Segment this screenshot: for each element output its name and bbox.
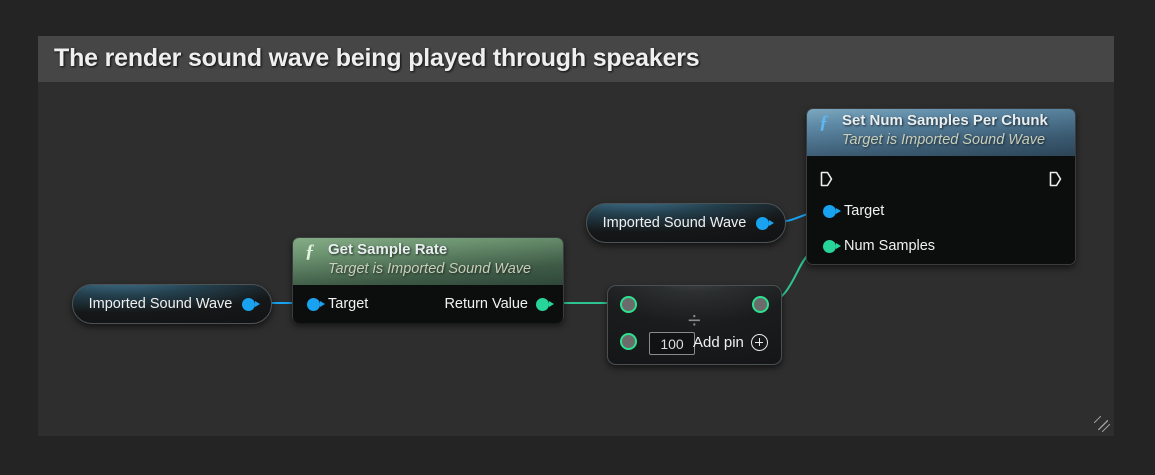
exec-input-pin[interactable]	[820, 171, 833, 187]
pin-dot[interactable]	[536, 298, 549, 311]
node-subtitle: Target is Imported Sound Wave	[842, 132, 1045, 148]
plus-circle-icon[interactable]	[751, 334, 768, 351]
pin-dot[interactable]	[823, 205, 836, 218]
output-pin-return-value[interactable]: Return Value	[444, 296, 549, 312]
function-f-icon: ƒ	[305, 241, 315, 263]
node-header: ƒ Get Sample Rate Target is Imported Sou…	[293, 238, 563, 285]
divide-output[interactable]	[752, 296, 769, 313]
output-pin[interactable]	[756, 217, 769, 230]
node-subtitle: Target is Imported Sound Wave	[328, 261, 531, 277]
pin-label: Target	[328, 296, 368, 312]
node-set-num-samples-per-chunk[interactable]: ƒ Set Num Samples Per Chunk Target is Im…	[806, 108, 1076, 265]
exec-output-pin[interactable]	[1049, 171, 1062, 187]
add-pin-button[interactable]: Add pin	[693, 334, 768, 351]
divide-value-input[interactable]: 100	[649, 332, 695, 355]
node-header: ƒ Set Num Samples Per Chunk Target is Im…	[807, 109, 1075, 156]
add-pin-label: Add pin	[693, 334, 744, 351]
resize-grip-icon[interactable]	[1094, 416, 1110, 432]
node-body: Target Return Value	[293, 285, 563, 323]
input-pin-num-samples[interactable]: Num Samples	[823, 238, 935, 254]
divide-input-b[interactable]	[620, 333, 637, 350]
pin-dot[interactable]	[307, 298, 320, 311]
pin-label: Target	[844, 203, 884, 219]
output-pin[interactable]	[242, 298, 255, 311]
input-pin-target[interactable]: Target	[823, 203, 884, 219]
pin-dot[interactable]	[823, 240, 836, 253]
page-title: The render sound wave being played throu…	[54, 44, 700, 73]
divide-input-a[interactable]	[620, 296, 637, 313]
variable-node-label: Imported Sound Wave	[603, 215, 747, 231]
node-body: Target Num Samples	[807, 156, 1075, 264]
variable-node-imported-sound-wave-left[interactable]: Imported Sound Wave	[72, 284, 272, 324]
node-title: Get Sample Rate	[328, 241, 447, 258]
pin-label: Return Value	[444, 296, 528, 312]
input-pin-target[interactable]: Target	[307, 296, 368, 312]
node-get-sample-rate[interactable]: ƒ Get Sample Rate Target is Imported Sou…	[292, 237, 564, 323]
node-divide[interactable]: ÷ 100 Add pin	[607, 285, 782, 365]
divide-symbol: ÷	[688, 309, 701, 332]
blueprint-graph-screenshot: The render sound wave being played throu…	[0, 0, 1155, 475]
panel-titlebar: The render sound wave being played throu…	[38, 36, 1114, 82]
variable-node-label: Imported Sound Wave	[89, 296, 233, 312]
pin-label: Num Samples	[844, 238, 935, 254]
variable-node-imported-sound-wave-right[interactable]: Imported Sound Wave	[586, 203, 786, 243]
node-title: Set Num Samples Per Chunk	[842, 112, 1048, 129]
function-f-icon: ƒ	[819, 112, 829, 134]
